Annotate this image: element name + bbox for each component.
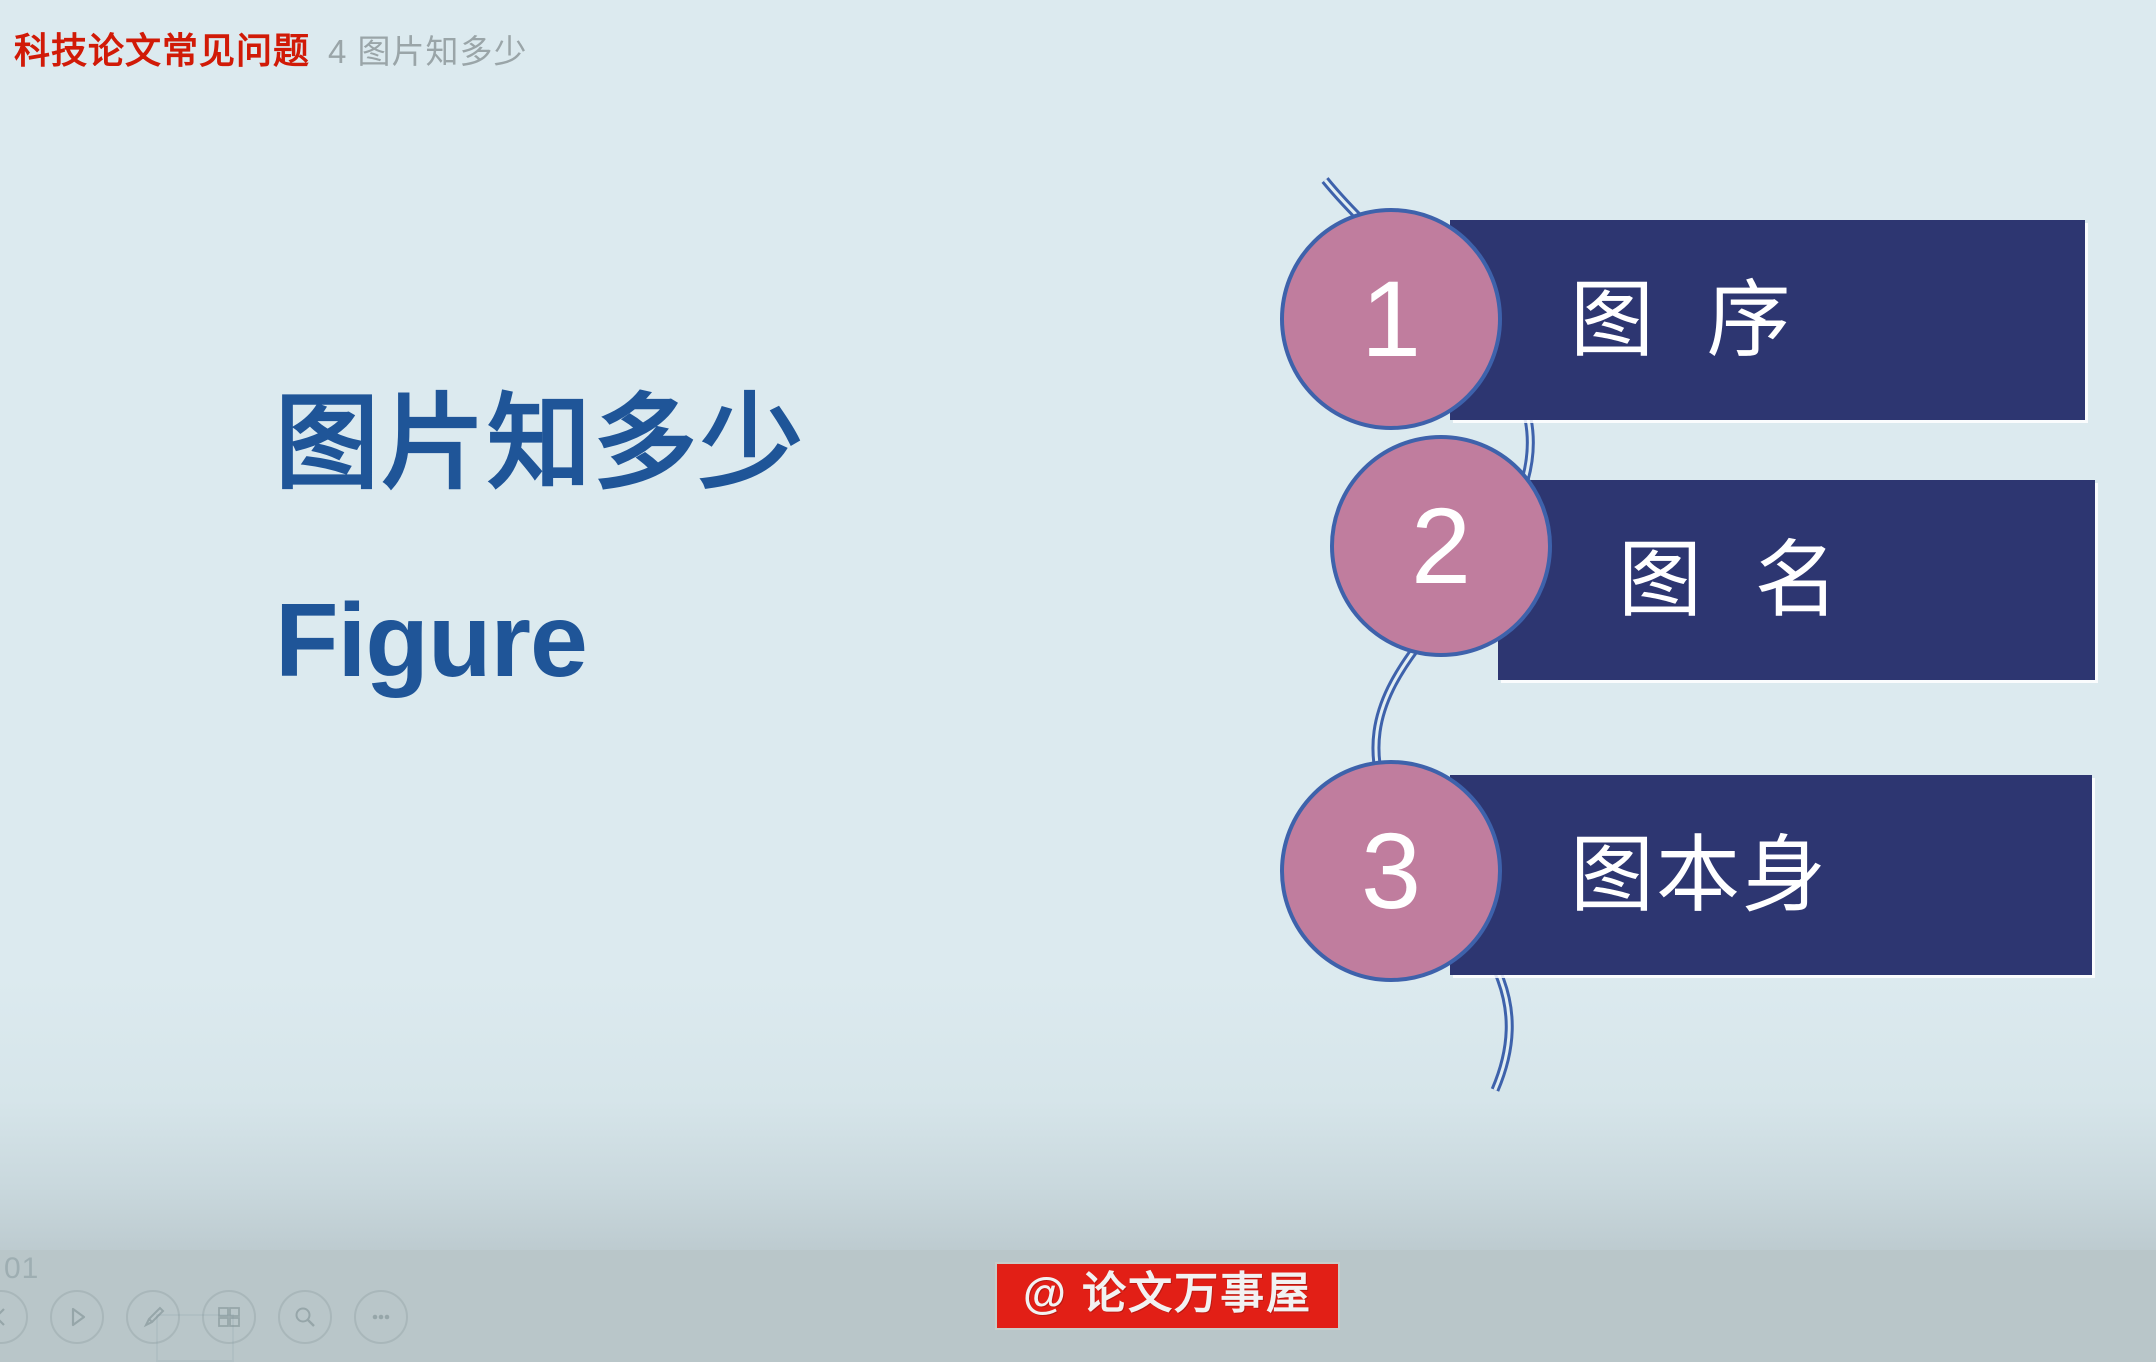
diagram-bar-3-label: 图本身 [1570,833,1828,917]
diagram-number-3: 3 [1361,817,1421,925]
watermark-text: @ 论文万事屋 [1023,1272,1312,1316]
next-slide-button[interactable] [50,1290,104,1344]
diagram-row-2[interactable]: 图 名 2 [1300,480,2110,680]
diagram-number-badge-2[interactable]: 2 [1330,435,1552,657]
breadcrumb: 科技论文常见问题 4 图片知多少 [14,22,528,74]
page-title-cn: 图片知多少 [275,390,895,499]
three-part-diagram: 图 序 1 图 名 2 图本身 [1320,180,2150,1090]
pen-tool-button[interactable] [126,1290,180,1344]
slide-number: 01 [4,1252,39,1286]
diagram-row-1[interactable]: 图 序 1 [1300,220,2100,420]
pen-icon [139,1303,167,1331]
diagram-bar-3[interactable]: 图本身 [1450,775,2092,975]
diagram-row-3[interactable]: 图本身 3 [1300,775,2110,975]
watermark-badge: @ 论文万事屋 [995,1262,1340,1330]
diagram-bar-2[interactable]: 图 名 [1498,480,2095,680]
magnifier-icon [291,1303,319,1331]
zoom-tool-button[interactable] [278,1290,332,1344]
previous-slide-button[interactable] [0,1290,28,1344]
diagram-bar-1-label: 图 序 [1570,278,1793,362]
play-icon [64,1304,90,1330]
more-options-button[interactable] [354,1290,408,1344]
page-title-block: 图片知多少 Figure [275,390,895,696]
diagram-number-1: 1 [1361,265,1421,373]
diagram-number-badge-1[interactable]: 1 [1280,208,1502,430]
breadcrumb-main: 科技论文常见问题 [14,22,310,74]
diagram-bar-1[interactable]: 图 序 [1450,220,2085,420]
grid-icon [215,1303,243,1331]
presenter-toolbar[interactable] [0,1290,408,1344]
diagram-number-badge-3[interactable]: 3 [1280,760,1502,982]
breadcrumb-sub: 4 图片知多少 [328,25,528,73]
diagram-number-2: 2 [1411,492,1471,600]
chevron-left-icon [0,1304,14,1330]
presentation-stage: 科技论文常见问题 4 图片知多少 图片知多少 Figure 图 序 1 [0,0,2156,1348]
diagram-bar-2-label: 图 名 [1618,538,1841,622]
page-title-en: Figure [275,587,895,696]
ellipsis-icon [367,1303,395,1331]
slide-canvas: 科技论文常见问题 4 图片知多少 图片知多少 Figure 图 序 1 [0,0,2156,1250]
all-slides-button[interactable] [202,1290,256,1344]
